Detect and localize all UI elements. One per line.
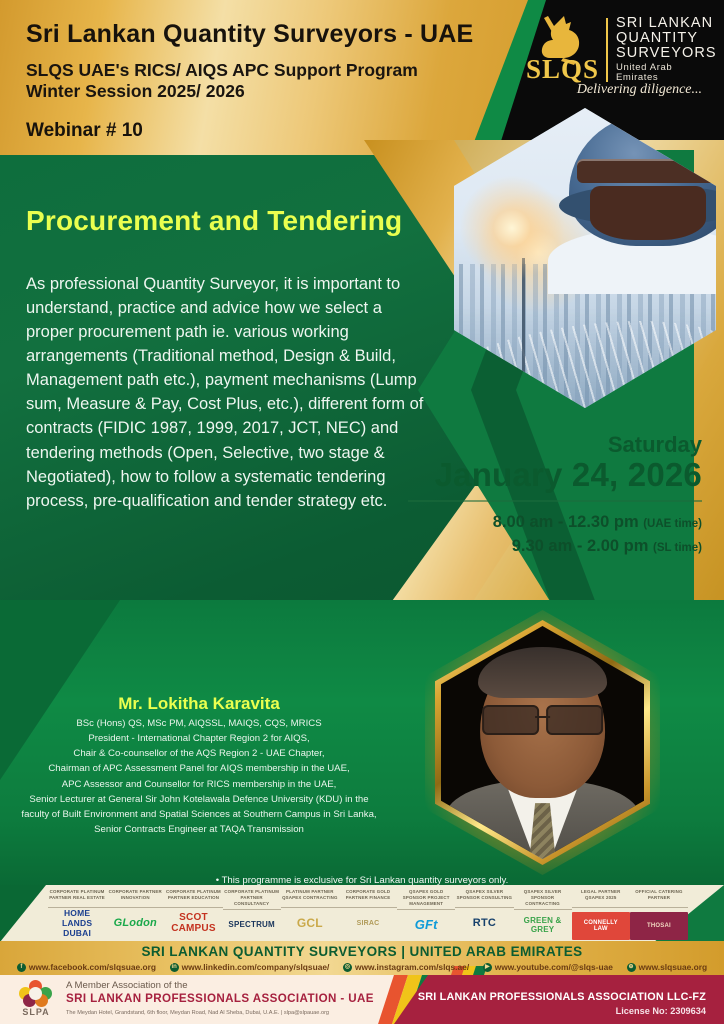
time-uae: 8.00 am - 12.30 pm xyxy=(493,513,639,531)
sponsor-tier-label: CORPORATE PLATINUM PARTNER REAL ESTATE xyxy=(48,889,106,908)
social-link[interactable]: fwww.facebook.com/slqsuae.org xyxy=(17,962,156,972)
speaker-name: Mr. Lokitha Karavita xyxy=(0,694,398,714)
sponsor-logo: GLodon xyxy=(106,912,164,934)
slqs-logo-text: SRI LANKAN QUANTITY SURVEYORS United Ara… xyxy=(616,16,717,83)
social-link[interactable]: ◎www.instagram.com/slqs.ae/ xyxy=(343,962,469,972)
sponsor-strip: CORPORATE PLATINUM PARTNER REAL ESTATEHO… xyxy=(48,889,688,941)
logo-line-4: United Arab Emirates xyxy=(616,63,717,83)
speaker-credentials: BSc (Hons) QS, MSc PM, AIQSSL, MAIQS, CQ… xyxy=(0,716,398,837)
exclusivity-note: • This programme is exclusive for Sri La… xyxy=(0,875,724,886)
webinar-poster: Sri Lankan Quantity Surveyors - UAE SLQS… xyxy=(0,0,724,1024)
sponsor-tier-label: QSAPEX SILVER SPONSOR CONTRACTING xyxy=(514,889,572,910)
linkedin-icon[interactable]: in xyxy=(170,963,179,972)
sponsor-tier-label: PLATINUM PARTNER QSAPEX CONTRACTING xyxy=(281,889,339,908)
social-url: www.slqsuae.org xyxy=(639,962,708,972)
sponsor-item: PLATINUM PARTNER QSAPEX CONTRACTINGGCL xyxy=(281,889,339,934)
slpa-license: License No: 2309634 xyxy=(616,1006,706,1016)
sponsor-logo: GCL xyxy=(281,912,339,934)
schedule-day: Saturday xyxy=(392,432,702,458)
footer-title: SRI LANKAN QUANTITY SURVEYORS | UNITED A… xyxy=(0,944,724,959)
logo-line-1: SRI LANKAN xyxy=(616,16,717,31)
sponsor-logo: SIRAC xyxy=(339,912,397,934)
social-url: www.youtube.com/@slqs-uae xyxy=(495,962,613,972)
program-subtitle: SLQS UAE's RICS/ AIQS APC Support Progra… xyxy=(26,60,418,103)
sponsor-tier-label: LEGAL PARTNER QSAPEX 2025 xyxy=(572,889,630,908)
sponsor-item: QSAPEX SILVER SPONSOR CONSULTINGRTC xyxy=(455,889,513,934)
topic-description: As professional Quantity Surveyor, it is… xyxy=(26,272,426,513)
slqs-acronym: SLQS xyxy=(526,54,599,85)
sponsor-item: CORPORATE GOLD PARTNER FINANCESIRAC xyxy=(339,889,397,934)
glasses-bridge xyxy=(535,716,550,718)
slpa-text: A Member Association of the SRI LANKAN P… xyxy=(66,980,374,1016)
sponsor-tier-label: CORPORATE PARTNER INNOVATION xyxy=(106,889,164,908)
speaker-hair xyxy=(478,647,608,698)
sponsor-logo: HOME LANDS DUBAI xyxy=(48,912,106,934)
sponsor-logo: SPECTRUM xyxy=(223,914,281,936)
sponsor-tier-label: CORPORATE PLATINUM PARTNER CONSULTANCY xyxy=(223,889,281,910)
time-uae-row: 8.00 am - 12.30 pm (UAE time) xyxy=(392,510,702,535)
sponsor-logo: GREEN & GREY xyxy=(514,914,572,936)
slpa-entity-name: SRI LANKAN PROFESSIONALS ASSOCIATION LLC… xyxy=(418,991,706,1003)
sponsor-logo: SCOT CAMPUS xyxy=(164,912,222,934)
facebook-icon[interactable]: f xyxy=(17,963,26,972)
social-link[interactable]: ▶www.youtube.com/@slqs-uae xyxy=(483,962,613,972)
speaker-portrait xyxy=(435,620,650,865)
sponsor-logo: RTC xyxy=(455,912,513,934)
sponsor-tier-label: OFFICIAL CATERING PARTNER xyxy=(630,889,688,908)
schedule-block: Saturday January 24, 2026 8.00 am - 12.3… xyxy=(392,432,702,559)
slpa-address: The Meydan Hotel, Grandstand, 6th floor,… xyxy=(66,1010,374,1016)
lens-left xyxy=(482,705,540,735)
sponsor-item: CORPORATE PLATINUM PARTNER CONSULTANCYSP… xyxy=(223,889,281,936)
social-links-row: fwww.facebook.com/slqsuae.orginwww.linke… xyxy=(0,962,724,972)
slpa-member-line: A Member Association of the xyxy=(66,980,374,991)
sponsor-item: QSAPEX SILVER SPONSOR CONTRACTINGGREEN &… xyxy=(514,889,572,936)
timezone-sl: (SL time) xyxy=(653,542,702,554)
social-url: www.instagram.com/slqs.ae/ xyxy=(355,962,469,972)
sponsor-logo: CONNELLY LAW xyxy=(572,912,630,940)
time-sl-row: 9.30 am - 2.00 pm (SL time) xyxy=(392,534,702,559)
sponsor-item: CORPORATE PARTNER INNOVATIONGLodon xyxy=(106,889,164,934)
sponsor-item: OFFICIAL CATERING PARTNERTHOSAI xyxy=(630,889,688,940)
time-sl: 9.30 am - 2.00 pm xyxy=(512,537,649,555)
slpa-flower-icon xyxy=(19,980,53,1006)
sponsor-item: CORPORATE PLATINUM PARTNER EDUCATIONSCOT… xyxy=(164,889,222,934)
sponsor-logo: THOSAI xyxy=(630,912,688,940)
logo-line-3: SURVEYORS xyxy=(616,46,717,61)
eyeglasses-icon xyxy=(482,705,604,731)
social-link[interactable]: ⊕www.slqsuae.org xyxy=(627,962,708,972)
slpa-block: SLPA A Member Association of the SRI LAN… xyxy=(14,980,394,1017)
sponsor-item: LEGAL PARTNER QSAPEX 2025CONNELLY LAW xyxy=(572,889,630,940)
worker-neck xyxy=(590,186,705,240)
social-url: www.facebook.com/slqsuae.org xyxy=(29,962,156,972)
instagram-icon[interactable]: ◎ xyxy=(343,963,352,972)
schedule-divider xyxy=(408,500,702,502)
webinar-number: Webinar # 10 xyxy=(26,120,143,142)
sponsor-tier-label: QSAPEX GOLD SPONSOR PROJECT MANAGEMENT xyxy=(397,889,455,910)
page-title: Sri Lankan Quantity Surveyors - UAE xyxy=(26,20,473,49)
slpa-logo: SLPA xyxy=(14,980,58,1017)
globe-icon[interactable]: ⊕ xyxy=(627,963,636,972)
sponsor-tier-label: CORPORATE PLATINUM PARTNER EDUCATION xyxy=(164,889,222,908)
slpa-association-name: SRI LANKAN PROFESSIONALS ASSOCIATION - U… xyxy=(66,992,374,1005)
sponsor-logo: GFt xyxy=(397,914,455,936)
slqs-tagline: Delivering diligence... xyxy=(577,82,702,98)
social-url: www.linkedin.com/company/slqsuae/ xyxy=(182,962,330,972)
logo-line-2: QUANTITY xyxy=(616,31,717,46)
schedule-times: 8.00 am - 12.30 pm (UAE time) 9.30 am - … xyxy=(392,510,702,560)
topic-heading: Procurement and Tendering xyxy=(26,205,402,237)
youtube-icon[interactable]: ▶ xyxy=(483,963,492,972)
timezone-uae: (UAE time) xyxy=(643,518,702,530)
sponsor-tier-label: CORPORATE GOLD PARTNER FINANCE xyxy=(339,889,397,908)
lens-right xyxy=(546,705,604,735)
logo-divider xyxy=(606,18,608,82)
sponsor-tier-label: QSAPEX SILVER SPONSOR CONSULTING xyxy=(455,889,513,908)
schedule-date: January 24, 2026 xyxy=(392,456,702,494)
sponsor-item: QSAPEX GOLD SPONSOR PROJECT MANAGEMENTGF… xyxy=(397,889,455,936)
slpa-acronym: SLPA xyxy=(14,1007,58,1017)
sponsor-item: CORPORATE PLATINUM PARTNER REAL ESTATEHO… xyxy=(48,889,106,934)
social-link[interactable]: inwww.linkedin.com/company/slqsuae/ xyxy=(170,962,330,972)
